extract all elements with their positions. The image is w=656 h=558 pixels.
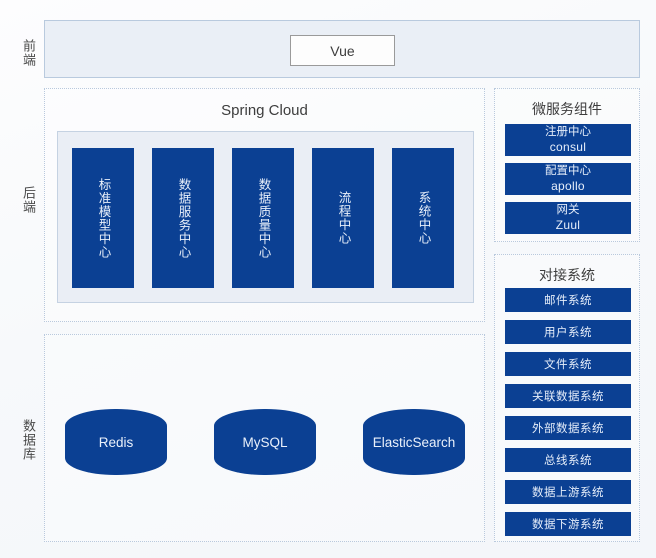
service-column-process-center[interactable]: 流程中心 xyxy=(312,148,374,288)
microservice-item-gateway-sub: Zuul xyxy=(556,218,581,233)
database-cylinder-mysql[interactable]: MySQL xyxy=(214,409,316,475)
microservice-components-panel: 微服务组件 注册中心 consul 配置中心 apollo 网关 Zuul xyxy=(494,88,640,242)
docking-item-file-system[interactable]: 文件系统 xyxy=(505,352,631,376)
database-layer-container: Redis MySQL ElasticSearch xyxy=(44,334,485,542)
microservice-item-config-label: 配置中心 xyxy=(545,164,591,179)
layer-label-backend: 后端 xyxy=(8,175,38,225)
service-column-data-quality-center[interactable]: 数据质量中心 xyxy=(232,148,294,288)
microservice-components-title: 微服务组件 xyxy=(495,99,639,119)
microservice-item-gateway-label: 网关 xyxy=(557,203,580,218)
docking-item-bus-system[interactable]: 总线系统 xyxy=(505,448,631,472)
microservice-item-config-sub: apollo xyxy=(551,179,585,194)
frontend-vue-box[interactable]: Vue xyxy=(290,35,395,66)
backend-services-panel: 标准模型中心 数据服务中心 数据质量中心 流程中心 系统中心 xyxy=(57,131,474,303)
docking-item-downstream-data-system[interactable]: 数据下游系统 xyxy=(505,512,631,536)
microservice-item-config[interactable]: 配置中心 apollo xyxy=(505,163,631,195)
docking-item-related-data-system[interactable]: 关联数据系统 xyxy=(505,384,631,408)
docking-item-external-data-system[interactable]: 外部数据系统 xyxy=(505,416,631,440)
docking-item-upstream-data-system[interactable]: 数据上游系统 xyxy=(505,480,631,504)
microservice-item-registry[interactable]: 注册中心 consul xyxy=(505,124,631,156)
layer-label-frontend: 前端 xyxy=(8,28,38,78)
service-column-system-center[interactable]: 系统中心 xyxy=(392,148,454,288)
architecture-diagram: 前端 后端 数据库 Vue Spring Cloud 标准模型中心 数据服务中心… xyxy=(0,0,656,558)
database-cylinder-elasticsearch[interactable]: ElasticSearch xyxy=(363,409,465,475)
docking-systems-panel: 对接系统 邮件系统 用户系统 文件系统 关联数据系统 外部数据系统 总线系统 数… xyxy=(494,254,640,542)
service-column-standard-model-center[interactable]: 标准模型中心 xyxy=(72,148,134,288)
microservice-item-registry-label: 注册中心 xyxy=(545,125,591,140)
layer-label-database: 数据库 xyxy=(8,405,38,475)
microservice-item-registry-sub: consul xyxy=(550,140,587,155)
backend-layer-container: Spring Cloud 标准模型中心 数据服务中心 数据质量中心 流程中心 系… xyxy=(44,88,485,322)
microservice-item-gateway[interactable]: 网关 Zuul xyxy=(505,202,631,234)
service-column-data-service-center[interactable]: 数据服务中心 xyxy=(152,148,214,288)
spring-cloud-title: Spring Cloud xyxy=(45,102,484,119)
frontend-layer-band: Vue xyxy=(44,20,640,78)
docking-systems-title: 对接系统 xyxy=(495,265,639,285)
database-cylinder-redis[interactable]: Redis xyxy=(65,409,167,475)
docking-item-user-system[interactable]: 用户系统 xyxy=(505,320,631,344)
docking-item-mail-system[interactable]: 邮件系统 xyxy=(505,288,631,312)
